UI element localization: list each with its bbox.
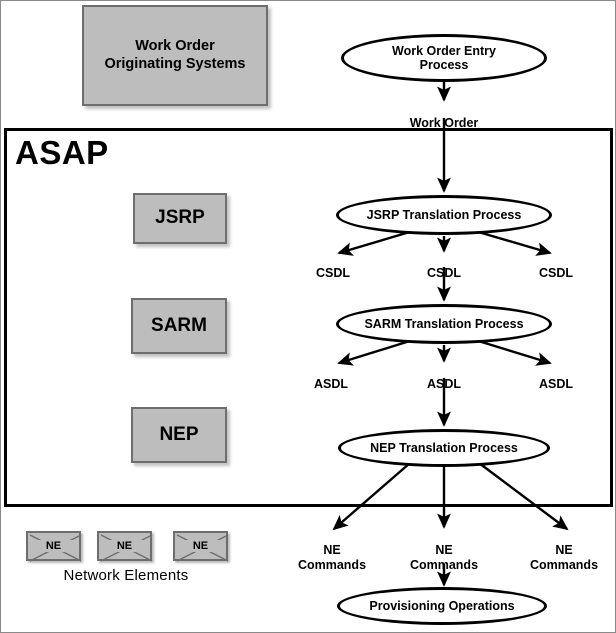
work-order-originating-systems-box: Work Order Originating Systems xyxy=(82,5,268,106)
ne-commands-left-text: NE Commands xyxy=(298,543,366,571)
flow-label-ne-commands-right: NE Commands xyxy=(514,529,614,572)
flow-label-asdl-right: ASDL xyxy=(516,363,596,392)
process-nep-translation: NEP Translation Process xyxy=(338,429,550,467)
process-provisioning-operations: Provisioning Operations xyxy=(337,587,547,625)
flow-label-work-order: Work Order xyxy=(384,102,504,131)
process-sarm-translation: SARM Translation Process xyxy=(336,304,552,344)
flow-label-ne-commands-center: NE Commands xyxy=(394,529,494,572)
asdl-left-text: ASDL xyxy=(314,377,348,391)
process-label-sarm-translation: SARM Translation Process xyxy=(364,317,523,331)
process-label-nep-translation: NEP Translation Process xyxy=(370,441,518,455)
process-label-provisioning-operations: Provisioning Operations xyxy=(369,599,514,613)
network-element-node-1: NE xyxy=(26,531,81,561)
origin-box-line2: Originating Systems xyxy=(104,56,245,73)
asdl-right-text: ASDL xyxy=(539,377,573,391)
network-element-node-2: NE xyxy=(97,531,152,561)
asap-title: ASAP xyxy=(15,134,109,172)
network-elements-caption-text: Network Elements xyxy=(64,567,189,584)
component-label-nep: NEP xyxy=(159,424,198,446)
component-box-nep: NEP xyxy=(131,407,227,463)
asdl-center-text: ASDL xyxy=(427,377,461,391)
flow-label-ne-commands-left: NE Commands xyxy=(282,529,382,572)
csdl-right-text: CSDL xyxy=(539,266,573,280)
flow-label-asdl-left: ASDL xyxy=(291,363,371,392)
network-element-label-3: NE xyxy=(175,540,226,552)
component-box-jsrp: JSRP xyxy=(133,193,227,244)
component-box-sarm: SARM xyxy=(131,298,227,354)
csdl-left-text: CSDL xyxy=(316,266,350,280)
component-label-sarm: SARM xyxy=(151,315,207,337)
process-work-order-entry: Work Order Entry Process xyxy=(341,34,547,82)
ne-commands-right-text: NE Commands xyxy=(530,543,598,571)
diagram-canvas: Work Order Originating Systems ASAP JSRP… xyxy=(0,0,616,633)
flow-label-csdl-right: CSDL xyxy=(516,252,596,281)
flow-label-csdl-center: CSDL xyxy=(404,252,484,281)
work-order-text: Work Order xyxy=(410,116,479,130)
origin-box-line1: Work Order xyxy=(104,38,245,55)
process-label-work-order-entry: Work Order Entry Process xyxy=(392,44,496,72)
process-label-jsrp-translation: JSRP Translation Process xyxy=(367,208,522,222)
network-element-label-1: NE xyxy=(28,540,79,552)
csdl-center-text: CSDL xyxy=(427,266,461,280)
network-elements-caption: Network Elements xyxy=(11,567,241,584)
process-jsrp-translation: JSRP Translation Process xyxy=(336,195,552,235)
network-element-node-3: NE xyxy=(173,531,228,561)
flow-label-asdl-center: ASDL xyxy=(404,363,484,392)
network-element-label-2: NE xyxy=(99,540,150,552)
component-label-jsrp: JSRP xyxy=(155,207,205,229)
ne-commands-center-text: NE Commands xyxy=(410,543,478,571)
flow-label-csdl-left: CSDL xyxy=(293,252,373,281)
